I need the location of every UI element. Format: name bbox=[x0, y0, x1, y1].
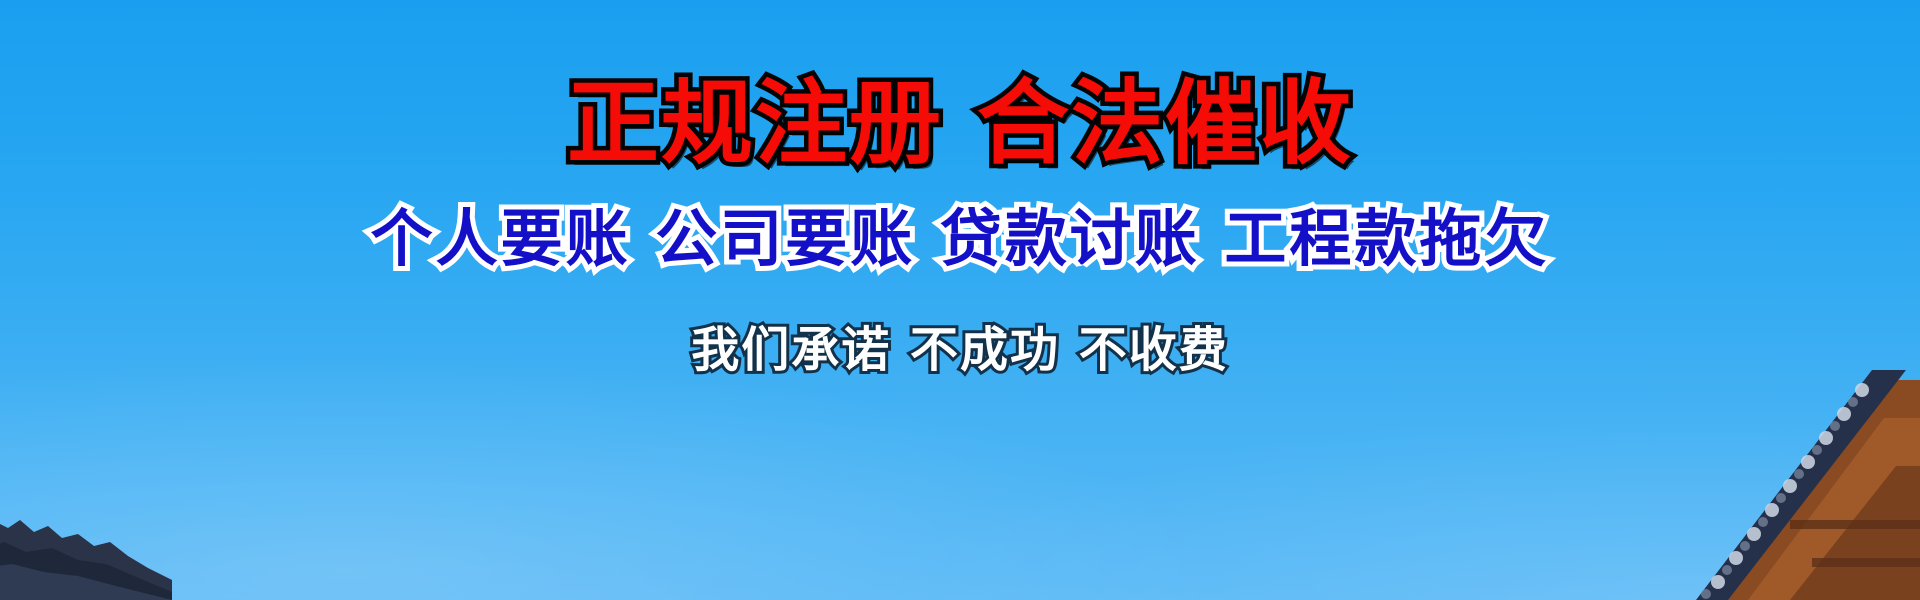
banner-headline: 正规注册 合法催收 bbox=[567, 78, 1353, 170]
banner-tagline: 我们承诺 不成功 不收费 bbox=[691, 326, 1228, 374]
banner-service-list: 个人要账 公司要账 贷款讨账 工程款拖欠 bbox=[371, 208, 1550, 270]
promo-banner: 正规注册 合法催收 个人要账 公司要账 贷款讨账 工程款拖欠 我们承诺 不成功 … bbox=[0, 0, 1920, 600]
banner-text-stack: 正规注册 合法催收 个人要账 公司要账 贷款讨账 工程款拖欠 我们承诺 不成功 … bbox=[0, 0, 1920, 600]
